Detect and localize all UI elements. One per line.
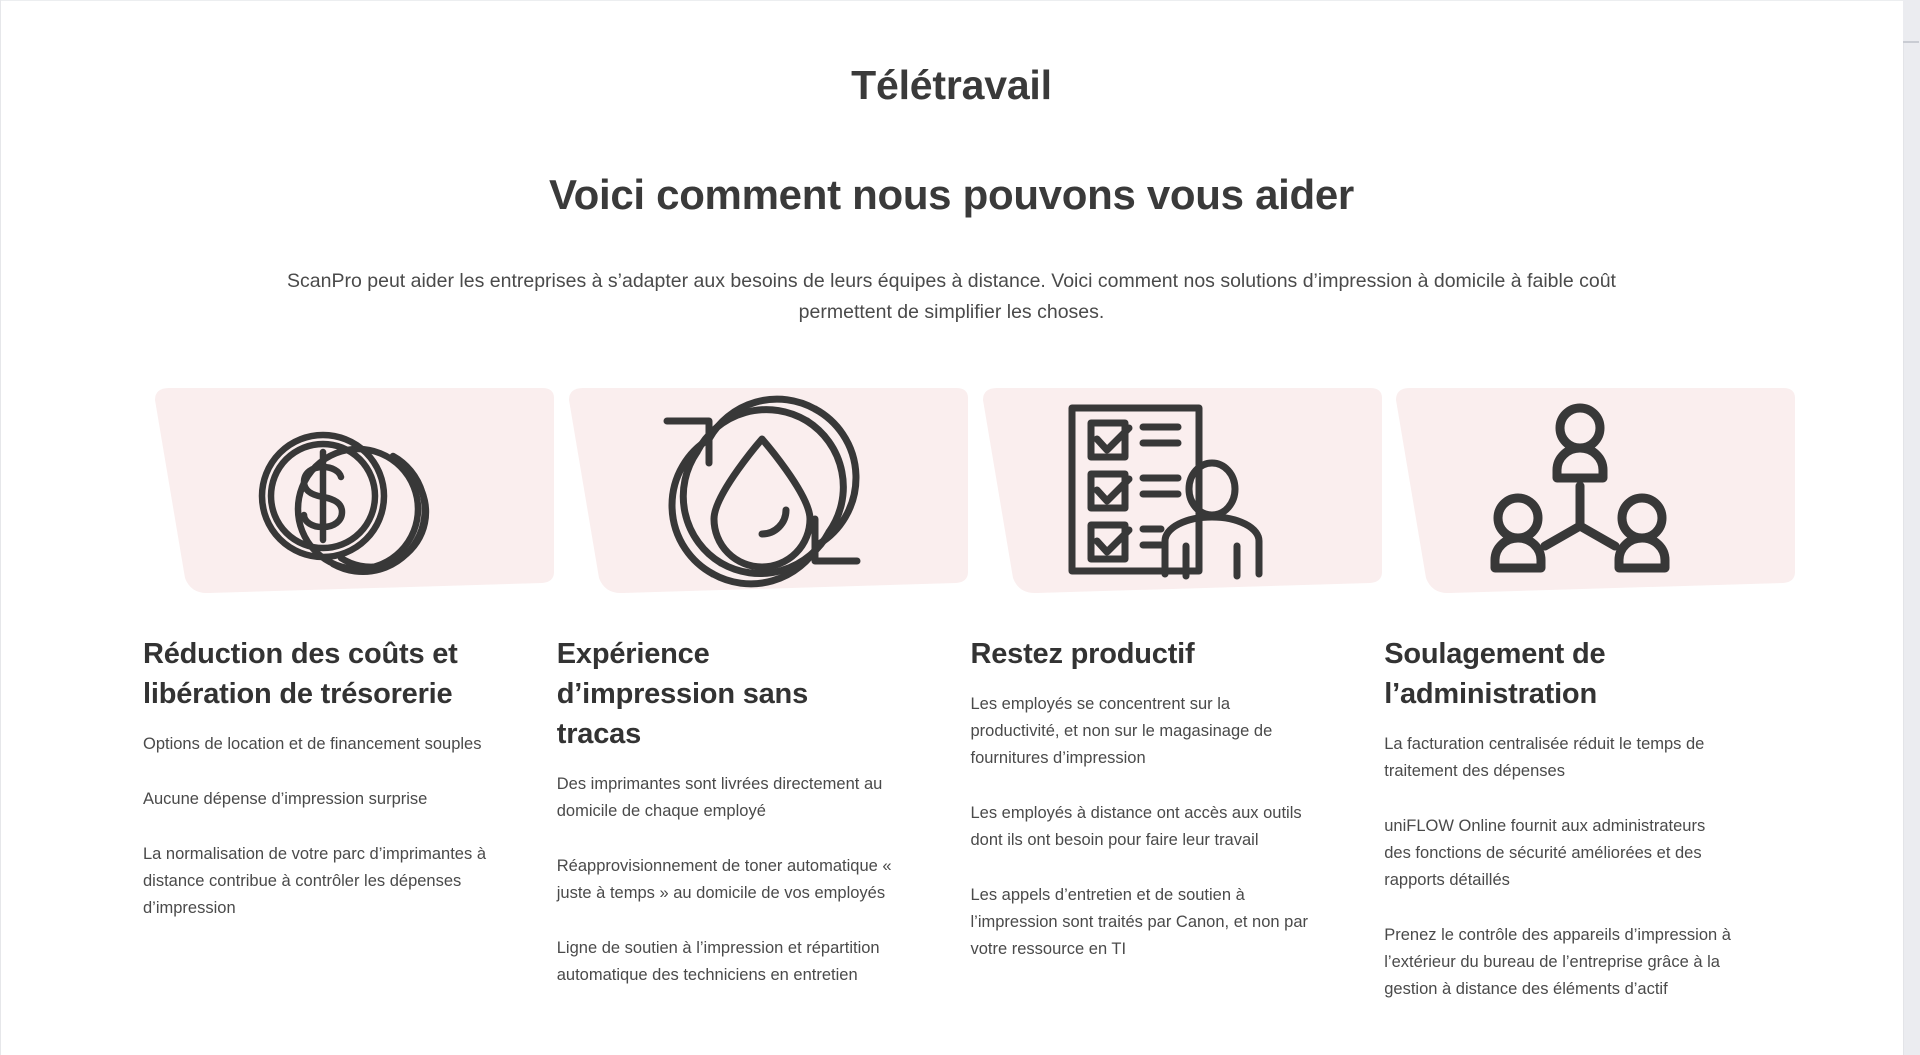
card-heading: Restez productif [971,634,1281,674]
card-point: Les employés à distance ont accès aux ou… [971,800,1321,854]
card-icon-block [971,386,1382,594]
page-scrollbar[interactable] [1903,0,1920,1055]
card-point-list: Les employés se concentrent sur la produ… [971,691,1321,963]
card-heading: Expérience d’impression sans tracas [557,634,887,754]
card-point-list: Des imprimantes sont livrées directement… [557,771,915,989]
page-eyebrow-title: Télétravail [0,62,1903,109]
card-point: Prenez le contrôle des appareils d’impre… [1384,922,1734,1003]
card-text-block: Soulagement de l’administration La factu… [1384,634,1798,1003]
card-icon-block [1384,386,1795,594]
card-point-list: La facturation centralisée réduit le tem… [1384,731,1734,1003]
card-icon-block [143,386,554,594]
feature-card: Soulagement de l’administration La factu… [1384,386,1798,1003]
card-point: Aucune dépense d’impression surprise [143,786,501,813]
card-point: La facturation centralisée réduit le tem… [1384,731,1734,785]
coins-dollar-icon [143,386,554,594]
page-title: Voici comment nous pouvons vous aider [0,171,1903,219]
page-content: Télétravail Voici comment nous pouvons v… [0,0,1903,1055]
card-icon-block [557,386,968,594]
toner-recycle-droplet-icon [557,386,968,594]
scrollbar-thumb[interactable] [1903,0,1919,43]
card-point: Réapprovisionnement de toner automatique… [557,853,915,907]
card-point: Les appels d’entretien et de soutien à l… [971,882,1321,963]
card-point-list: Options de location et de financement so… [143,731,501,922]
feature-card-grid: Réduction des coûts et libération de tré… [143,386,1798,1003]
card-point: Les employés se concentrent sur la produ… [971,691,1321,772]
feature-card: Restez productif Les employés se concent… [971,386,1385,1003]
feature-card: Réduction des coûts et libération de tré… [143,386,557,1003]
checklist-person-icon [971,386,1382,594]
intro-paragraph: ScanPro peut aider les entreprises à s’a… [272,266,1632,328]
card-text-block: Restez productif Les employés se concent… [971,634,1385,963]
card-text-block: Expérience d’impression sans tracas Des … [557,634,971,989]
card-point: Des imprimantes sont livrées directement… [557,771,915,825]
card-point: La normalisation de votre parc d’imprima… [143,841,501,922]
card-point: uniFLOW Online fournit aux administrateu… [1384,813,1734,894]
feature-card: Expérience d’impression sans tracas Des … [557,386,971,1003]
card-text-block: Réduction des coûts et libération de tré… [143,634,557,922]
people-network-icon [1384,386,1795,594]
card-point: Ligne de soutien à l’impression et répar… [557,935,915,989]
card-heading: Réduction des coûts et libération de tré… [143,634,473,714]
card-heading: Soulagement de l’administration [1384,634,1694,714]
card-point: Options de location et de financement so… [143,731,501,758]
